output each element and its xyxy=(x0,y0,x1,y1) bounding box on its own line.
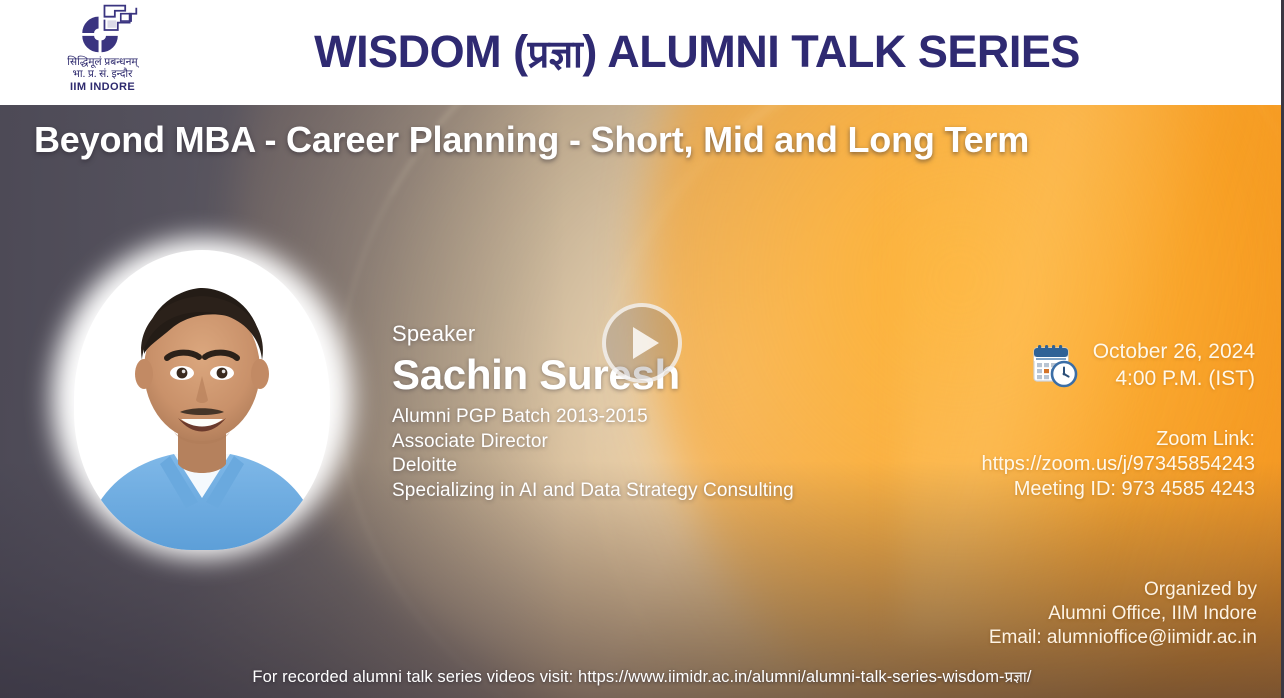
zoom-link-url[interactable]: https://zoom.us/j/97345854243 xyxy=(981,452,1255,477)
header-band: सिद्धिमूलं प्रबन्धनम् भा. प्र. सं. इन्दौ… xyxy=(0,0,1284,105)
title-devanagari: प्रज्ञा xyxy=(528,32,583,76)
footer-suffix: / xyxy=(1027,668,1032,686)
organizer-info: Organized by Alumni Office, IIM Indore E… xyxy=(989,578,1257,650)
speaker-detail-batch: Alumni PGP Batch 2013-2015 xyxy=(392,405,794,430)
speaker-label: Speaker xyxy=(392,320,794,348)
logo-english-text: IIM INDORE xyxy=(70,81,135,94)
schedule-text: October 26, 2024 4:00 P.M. (IST) xyxy=(1093,338,1255,392)
session-subtitle: Beyond MBA - Career Planning - Short, Mi… xyxy=(34,119,1029,161)
zoom-info: Zoom Link: https://zoom.us/j/97345854243… xyxy=(981,427,1255,502)
title-part-2: ) ALUMNI TALK SERIES xyxy=(582,26,1079,77)
webinar-poster-video-frame: सिद्धिमूलं प्रबन्धनम् भा. प्र. सं. इन्दौ… xyxy=(0,0,1284,698)
footer-note: For recorded alumni talk series videos v… xyxy=(0,667,1284,687)
play-button[interactable] xyxy=(602,303,682,383)
speaker-info: Speaker Sachin Suresh Alumni PGP Batch 2… xyxy=(392,320,794,503)
event-time: 4:00 P.M. (IST) xyxy=(1093,365,1255,392)
organizer-email[interactable]: Email: alumnioffice@iimidr.ac.in xyxy=(989,626,1257,650)
organizer-name: Alumni Office, IIM Indore xyxy=(989,602,1257,626)
organizer-label: Organized by xyxy=(989,578,1257,602)
footer-devanagari: प्रज्ञा xyxy=(1005,668,1027,686)
speaker-details: Alumni PGP Batch 2013-2015 Associate Dir… xyxy=(392,405,794,503)
schedule-block: October 26, 2024 4:00 P.M. (IST) xyxy=(1031,338,1255,392)
portrait-illustration xyxy=(74,250,330,550)
photo-clip xyxy=(74,250,330,550)
calendar-clock-icon xyxy=(1031,342,1079,388)
zoom-meeting-id: Meeting ID: 973 4585 4243 xyxy=(981,477,1255,502)
event-date: October 26, 2024 xyxy=(1093,338,1255,365)
title-part-1: WISDOM ( xyxy=(314,26,527,77)
speaker-photo xyxy=(52,238,352,558)
institute-logo: सिद्धिमूलं प्रबन्धनम् भा. प्र. सं. इन्दौ… xyxy=(0,0,205,105)
speaker-detail-company: Deloitte xyxy=(392,454,794,479)
speaker-detail-specialization: Specializing in AI and Data Strategy Con… xyxy=(392,479,794,504)
logo-hindi-text: भा. प्र. सं. इन्दौर xyxy=(73,69,133,82)
logo-sanskrit-text: सिद्धिमूलं प्रबन्धनम् xyxy=(67,57,137,69)
play-icon xyxy=(633,327,659,359)
speaker-name: Sachin Suresh xyxy=(392,350,794,400)
speaker-detail-role: Associate Director xyxy=(392,430,794,455)
iim-indore-logo-icon xyxy=(66,3,140,57)
page-title: WISDOM (प्रज्ञा) ALUMNI TALK SERIES xyxy=(205,26,1284,79)
zoom-link-label: Zoom Link: xyxy=(981,427,1255,452)
footer-prefix: For recorded alumni talk series videos v… xyxy=(252,668,1004,686)
